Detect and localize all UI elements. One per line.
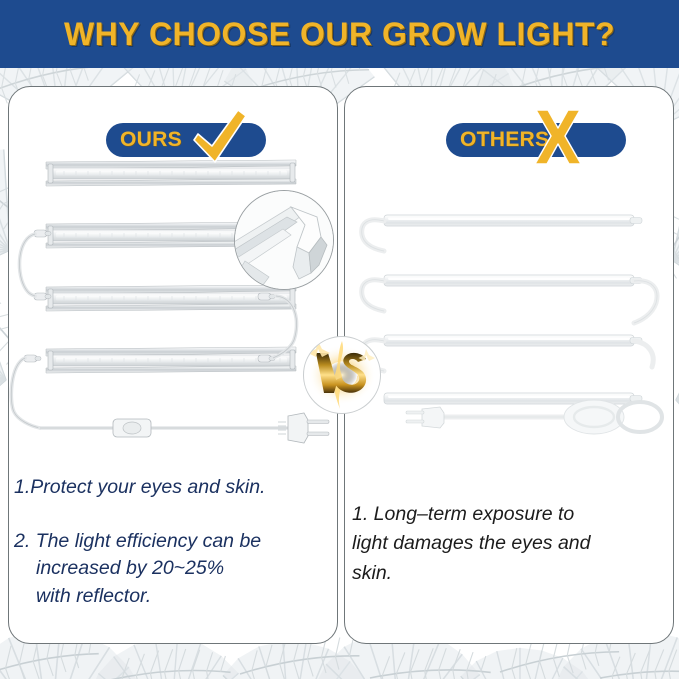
ours-bullet-2-line-2: increased by 20~25%	[14, 555, 326, 583]
ours-bullet-2-line-3: with reflector.	[14, 583, 326, 611]
reflector-closeup-svg	[235, 191, 333, 289]
ours-badge-label: OURS	[120, 128, 182, 152]
versus-icon	[304, 337, 380, 413]
plain-tube-1	[384, 215, 642, 226]
others-bullet-1-line-1: 1. Long–term exposure to	[352, 500, 660, 529]
comparison-infographic: WHY CHOOSE OUR GROW LIGHT?	[0, 0, 679, 679]
reflector-closeup-inset	[234, 190, 334, 290]
power-cord-with-switch	[40, 413, 329, 443]
others-connect-cables	[362, 220, 657, 371]
others-badge-label: OTHERS	[460, 128, 549, 152]
others-bullet-1-line-3: skin.	[352, 559, 660, 588]
ours-badge[interactable]: OURS	[106, 123, 266, 157]
others-wall-plug	[406, 400, 662, 434]
plain-tube-3	[384, 335, 642, 346]
header-banner: WHY CHOOSE OUR GROW LIGHT?	[0, 0, 679, 68]
led-tube-4	[24, 347, 296, 373]
others-badge[interactable]: OTHERS	[446, 123, 626, 157]
others-drawbacks-text: 1. Long–term exposure to light damages t…	[352, 500, 660, 588]
ours-bullet-2-line-1: 2. The light efficiency can be	[14, 530, 261, 552]
led-tube-3	[34, 285, 296, 311]
led-tube-1	[46, 160, 296, 186]
page-title: WHY CHOOSE OUR GROW LIGHT?	[64, 16, 615, 53]
rocker-switch[interactable]	[113, 419, 151, 437]
ours-bullet-1: 1.Protect your eyes and skin.	[14, 474, 326, 502]
plain-tube-2	[384, 275, 642, 286]
ours-benefits-text: 1.Protect your eyes and skin. 2. The lig…	[14, 474, 326, 611]
others-product-illustration	[344, 195, 674, 455]
versus-badge	[303, 336, 381, 414]
others-bullet-1-line-2: light damages the eyes and	[352, 529, 660, 558]
